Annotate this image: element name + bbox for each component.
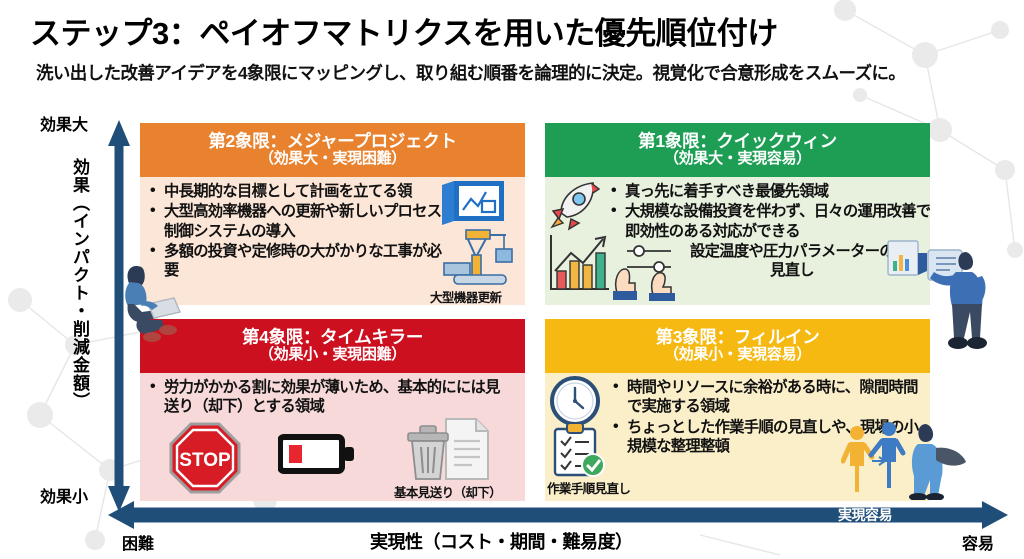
clipboard-check-icon [549, 421, 607, 479]
list-item: 労力がかかる割に効果が薄いため、基本的にには見送り（却下）とする領域 [148, 378, 508, 417]
quadrant-grid: 第2象限：メジャープロジェクト （効果大・実現困難） 中長期的な目標として計画を… [140, 123, 930, 501]
crane-icon-caption: 大型機器更新 [430, 287, 501, 305]
quadrant-2-subtitle: （効果大・実現困難） [259, 151, 406, 168]
page-subtitle: 洗い出した改善アイデアを4象限にマッピングし、取り組む順番を論理的に決定。視覚化… [36, 60, 905, 85]
quadrant-1-subtitle: （効果大・実現容易） [664, 151, 811, 168]
x-axis-left-label: 困難 [122, 530, 154, 554]
quadrant-3-body: 時間やリソースに余裕がある時に、隙間時間で実施する領域 ちょっとした作業手順の見… [545, 373, 930, 501]
quadrant-2-bullet-list: 中長期的な目標として計画を立てる領 大型高効率機器への更新や新しいプロセス制御シ… [148, 182, 448, 280]
y-axis-bottom-label: 効果小 [40, 483, 88, 507]
blueprint-icon [440, 179, 506, 231]
list-item: 中長期的な目標として計画を立てる領 [148, 182, 448, 201]
quadrant-3-title: 第3象限：フィルイン [656, 328, 820, 348]
quadrant-2-header: 第2象限：メジャープロジェクト （効果大・実現困難） [140, 123, 525, 177]
stop-sign-icon: STOP [168, 421, 242, 495]
trash-document-icon-caption: 基本見送り（却下） [394, 482, 501, 501]
x-axis-right-label: 容易 [962, 530, 994, 554]
list-item: 真っ先に着手すべき最優先領域 [609, 182, 930, 201]
quadrant-2-major-project[interactable]: 第2象限：メジャープロジェクト （効果大・実現困難） 中長期的な目標として計画を… [140, 123, 525, 305]
trash-document-icon [402, 413, 494, 485]
x-axis-inline-note: 実現容易 [838, 505, 892, 525]
dashboard-icon [885, 237, 929, 285]
quadrant-1-title: 第1象限：クイックウィン [638, 132, 837, 152]
list-item: 時間やリソースに余裕がある時に、隙間時間で実施する領域 [611, 378, 930, 417]
y-axis-title: 効果（インパクト・削減金額） [48, 158, 92, 478]
quadrant-4-subtitle: （効果小・実現困難） [259, 347, 406, 364]
quadrant-4-time-killer[interactable]: 第4象限：タイムキラー （効果小・実現困難） 労力がかかる割に効果が薄いため、基… [140, 319, 525, 501]
quadrant-2-body: 中長期的な目標として計画を立てる領 大型高効率機器への更新や新しいプロセス制御シ… [140, 177, 525, 305]
quadrant-4-title: 第4象限：タイムキラー [242, 328, 423, 348]
quadrant-2-title: 第2象限：メジャープロジェクト [208, 132, 456, 152]
quadrant-1-quick-win[interactable]: 第1象限：クイックウィン （効果大・実現容易） 真っ先に着手すべき最優先領域 大… [545, 123, 930, 305]
payoff-matrix-slide: ステップ3：ペイオフマトリクスを用いた優先順位付け 洗い出した改善アイデアを4象… [0, 0, 1024, 559]
clipboard-check-icon-caption: 作業手順見直し [547, 478, 630, 497]
quadrant-1-body: 真っ先に着手すべき最優先領域 大規模な設備投資を伴わず、日々の運用改善で即効性の… [545, 177, 930, 305]
list-item: 多額の投資や定修時の大がかりな工事が必要 [148, 242, 448, 281]
quadrant-4-body: 労力がかかる割に効果が薄いため、基本的にには見送り（却下）とする領域 STOP [140, 373, 525, 501]
hand-slider-icon [609, 239, 685, 301]
quadrant-3-fill-in[interactable]: 第3象限：フィルイン （効果小・実現容易） 時間やリソースに余裕がある時に、隙間… [545, 319, 930, 501]
person-carrying-bag-illustration [900, 418, 980, 500]
low-battery-icon [278, 431, 356, 477]
quadrant-4-header: 第4象限：タイムキラー （効果小・実現困難） [140, 319, 525, 373]
svg-text:STOP: STOP [179, 450, 231, 471]
quadrant-1-bullet-list: 真っ先に着手すべき最優先領域 大規模な設備投資を伴わず、日々の運用改善で即効性の… [609, 182, 930, 241]
list-item: 大型高効率機器への更新や新しいプロセス制御システムの導入 [148, 202, 448, 241]
quadrant-1-header: 第1象限：クイックウィン （効果大・実現容易） [545, 123, 930, 177]
y-axis-top-label: 効果大 [40, 111, 88, 135]
person-with-dashboard-illustration [926, 244, 1000, 354]
clock-icon [549, 375, 601, 427]
page-title: ステップ3：ペイオフマトリクスを用いた優先順位付け [30, 8, 778, 53]
quadrant-1-note: 設定温度や圧力パラメーターの見直し [685, 243, 899, 280]
x-axis-title: 実現性（コスト・期間・難易度） [370, 528, 633, 554]
quadrant-4-bullet-list: 労力がかかる割に効果が薄いため、基本的にには見送り（却下）とする領域 [148, 378, 508, 417]
quadrant-3-subtitle: （効果小・実現容易） [664, 347, 811, 364]
list-item: 大規模な設備投資を伴わず、日々の運用改善で即効性のある対応ができる [609, 202, 930, 241]
growth-bar-chart-icon [545, 231, 613, 297]
crane-icon [436, 227, 514, 289]
quadrant-3-header: 第3象限：フィルイン （効果小・実現容易） [545, 319, 930, 373]
rocket-icon [547, 179, 605, 231]
person-with-laptop-illustration [112, 258, 184, 344]
